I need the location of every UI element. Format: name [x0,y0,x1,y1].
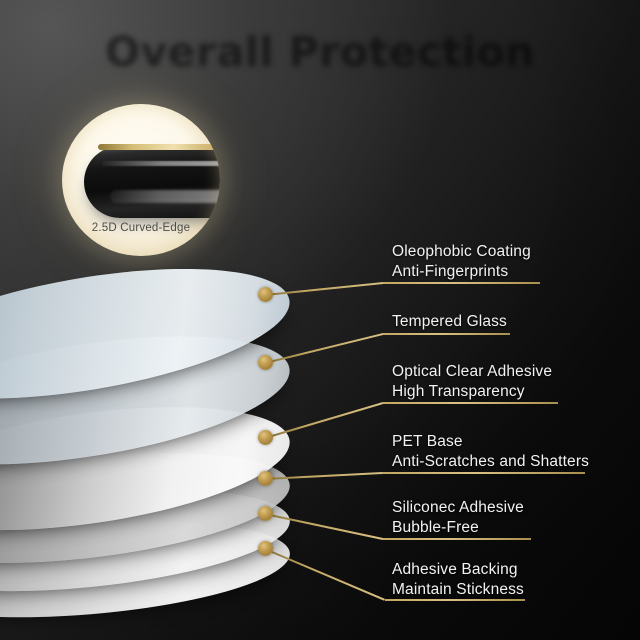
callout-label-line2-optical-clear-adhesive: High Transparency [392,382,552,402]
callout-label-line2-adhesive-backing: Maintain Stickness [392,580,524,600]
callout-label-line2-siliconec-adhesive: Bubble-Free [392,518,524,538]
screen-protector-layer-stack [0,0,640,640]
page-title: Overall Protection [0,26,640,74]
callout-underline-pet-base [383,472,585,474]
callout-label-line1-siliconec-adhesive: Siliconec Adhesive [392,498,524,518]
callout-label-optical-clear-adhesive: Optical Clear AdhesiveHigh Transparency [392,362,552,402]
product-infographic: Oleophobic CoatingAnti-FingerprintsTempe… [0,0,640,640]
callout-label-oleophobic-coating: Oleophobic CoatingAnti-Fingerprints [392,242,531,282]
callout-label-tempered-glass: Tempered Glass [392,312,507,332]
callout-dot-pet-base[interactable] [258,471,273,486]
phone-edge-icon [84,146,220,218]
callout-dot-siliconec-adhesive[interactable] [258,506,273,521]
callout-label-siliconec-adhesive: Siliconec AdhesiveBubble-Free [392,498,524,538]
callout-dot-tempered-glass[interactable] [258,355,273,370]
curved-edge-inset: 2.5D Curved-Edge [62,104,220,256]
callout-label-pet-base: PET BaseAnti-Scratches and Shatters [392,432,589,472]
callout-underline-tempered-glass [383,333,510,335]
callout-label-line1-tempered-glass: Tempered Glass [392,312,507,332]
callout-underline-siliconec-adhesive [383,538,531,540]
callout-label-line1-oleophobic-coating: Oleophobic Coating [392,242,531,262]
callout-dot-adhesive-backing[interactable] [258,541,273,556]
callout-dot-optical-clear-adhesive[interactable] [258,430,273,445]
callout-label-line1-adhesive-backing: Adhesive Backing [392,560,524,580]
callout-label-line1-optical-clear-adhesive: Optical Clear Adhesive [392,362,552,382]
edge-highlight-upper [102,161,220,166]
callout-label-line1-pet-base: PET Base [392,432,589,452]
edge-highlight-lower [110,190,220,203]
callout-label-line2-pet-base: Anti-Scratches and Shatters [392,452,589,472]
callout-underline-oleophobic-coating [383,282,540,284]
callout-dot-oleophobic-coating[interactable] [258,287,273,302]
inset-caption: 2.5D Curved-Edge [62,222,220,234]
gold-edge-strip-icon [98,144,220,150]
callout-label-line2-oleophobic-coating: Anti-Fingerprints [392,262,531,282]
callout-label-adhesive-backing: Adhesive BackingMaintain Stickness [392,560,524,600]
callout-underline-optical-clear-adhesive [383,402,558,404]
